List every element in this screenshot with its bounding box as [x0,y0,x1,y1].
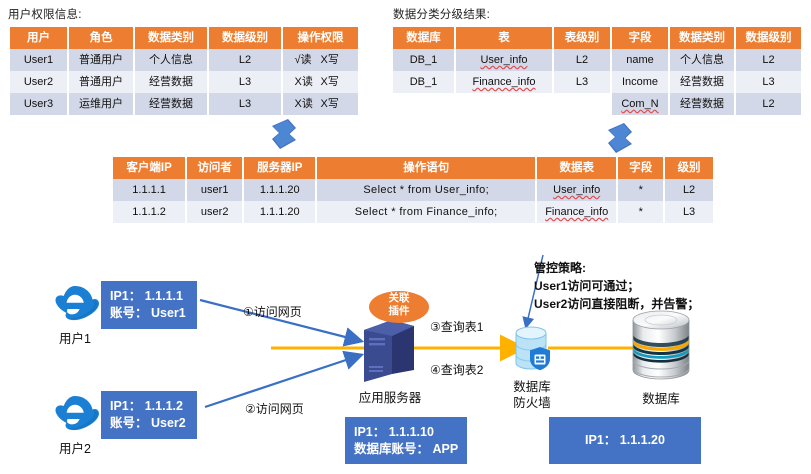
flow-label-step1: ①访问网页 [243,303,302,320]
cell-user: User1 [10,49,68,71]
cell-table-level: L3 [553,71,611,93]
cell-server-ip: 1.1.1.20 [243,179,316,201]
flow-label-step2: ②访问网页 [245,400,304,417]
col-field: 字段 [617,157,664,179]
cell-database: DB_1 [393,71,455,93]
col-level: 级别 [664,157,713,179]
permission-write: X写 [321,53,347,67]
col-data-level: 数据级别 [208,27,282,49]
database-info-box: IP1： 1.1.1.20 [549,417,701,464]
cell-category: 经营数据 [669,93,735,115]
audit-log-table: 客户端IP 访问者 服务器IP 操作语句 数据表 字段 级别 1.1.1.1 u… [113,157,713,223]
policy-callout: 管控策略: User1访问可通过； User2访问直接阻断，并告警； [534,259,699,313]
table-row: DB_1 Finance_info L3 Income 经营数据 L3 [393,71,801,93]
cell-client-ip: 1.1.1.1 [113,179,186,201]
col-field: 字段 [611,27,669,49]
cell-visitor: user1 [186,179,243,201]
cell-level: L3 [208,93,282,115]
user2-account: 账号： User2 [110,415,188,432]
cell-database: DB_1 [393,49,455,71]
blue-arrow-icon [594,121,634,155]
policy-title: 管控策略: [534,259,699,277]
app-server-label: 应用服务器 [349,387,431,406]
cell-field: Income [611,71,669,93]
col-client-ip: 客户端IP [113,157,186,179]
database-firewall-icon [508,323,556,379]
plugin-label-line1: 关联 [368,292,430,305]
user2-ip: IP1： 1.1.1.2 [110,398,188,415]
db-firewall-label-line1: 数据库 [499,379,565,395]
cell-table-level: L2 [553,49,611,71]
cell-statement: Select * from User_info; [316,179,536,201]
cell-role: 运维用户 [68,93,134,115]
user1-info-box: IP1： 1.1.1.1 账号： User1 [101,281,197,329]
cell-level: L2 [735,93,801,115]
db-firewall-label: 数据库 防火墙 [499,379,565,411]
cell-level: L2 [208,49,282,71]
ie-browser-icon [47,391,103,435]
permission-read: X读 [295,75,321,89]
classification-table: 数据库 表 表级别 字段 数据类别 数据级别 DB_1 User_info L2… [393,27,801,115]
database-ip: IP1： 1.1.1.20 [585,432,665,449]
database-icon [625,308,697,384]
col-role: 角色 [68,27,134,49]
cell-category: 经营数据 [669,71,735,93]
permission-read: X读 [295,97,321,111]
col-data-category: 数据类别 [134,27,208,49]
table-row: User1 普通用户 个人信息 L2 √读X写 [10,49,358,71]
cell-level: L2 [735,49,801,71]
database-label: 数据库 [628,388,694,407]
cell-data-table: Finance_info [536,201,617,223]
plugin-badge: 关联 插件 [368,290,430,324]
cell-table: Finance_info [455,71,553,93]
policy-line-2: User2访问直接阻断，并告警； [534,295,699,313]
table-header-row: 客户端IP 访问者 服务器IP 操作语句 数据表 字段 级别 [113,157,713,179]
cell-visitor: user2 [186,201,243,223]
app-server-db-account: 数据库账号： APP [354,441,458,458]
user2-info-box: IP1： 1.1.1.2 账号： User2 [101,391,197,439]
cell-database [393,93,455,115]
plugin-label-line2: 插件 [368,305,430,318]
col-table-level: 表级别 [553,27,611,49]
cell-permission: X读X写 [282,93,358,115]
table-row: User3 运维用户 经营数据 L3 X读X写 [10,93,358,115]
col-operation-permission: 操作权限 [282,27,358,49]
cell-field: * [617,201,664,223]
cell-field: Com_N [611,93,669,115]
cell-user: User2 [10,71,68,93]
cell-data-table: User_info [536,179,617,201]
col-visitor: 访问者 [186,157,243,179]
cell-client-ip: 1.1.1.2 [113,201,186,223]
table-row: User2 普通用户 经营数据 L3 X读X写 [10,71,358,93]
user1-ip: IP1： 1.1.1.1 [110,288,188,305]
cell-category: 个人信息 [669,49,735,71]
cell-permission: X读X写 [282,71,358,93]
arrow-down-left-from-classify-table [594,121,634,160]
ie-browser-icon [47,281,103,325]
user-permission-table: 用户 角色 数据类别 数据级别 操作权限 User1 普通用户 个人信息 L2 … [10,27,358,115]
cell-table: User_info [455,49,553,71]
col-statement: 操作语句 [316,157,536,179]
col-user: 用户 [10,27,68,49]
cell-category: 个人信息 [134,49,208,71]
permission-write: X写 [321,97,347,111]
permission-write: X写 [321,75,347,89]
cell-field: * [617,179,664,201]
flow-label-step3: ③查询表1 [430,318,483,335]
blue-arrow-icon [258,117,298,151]
cell-role: 普通用户 [68,71,134,93]
arrow-down-left-from-perm-table [258,117,298,156]
cell-permission: √读X写 [282,49,358,71]
policy-line-1: User1访问可通过； [534,277,699,295]
db-firewall-label-line2: 防火墙 [499,395,565,411]
col-data-table: 数据表 [536,157,617,179]
user1-account: 账号： User1 [110,305,188,322]
cell-field: name [611,49,669,71]
app-server-ip: IP1： 1.1.1.10 [354,424,458,441]
col-database: 数据库 [393,27,455,49]
cell-table [455,93,553,115]
cell-level: L2 [664,179,713,201]
table-row: DB_1 User_info L2 name 个人信息 L2 [393,49,801,71]
classify-caption: 数据分类分级结果: [393,6,490,22]
cell-server-ip: 1.1.1.20 [243,201,316,223]
app-server-icon [358,316,420,386]
flow-label-step4: ④查询表2 [430,361,483,378]
table-row: 1.1.1.2 user2 1.1.1.20 Select * from Fin… [113,201,713,223]
table-header-row: 用户 角色 数据类别 数据级别 操作权限 [10,27,358,49]
user2-label: 用户2 [44,438,106,457]
user1-label: 用户1 [44,328,106,347]
cell-category: 经营数据 [134,71,208,93]
permission-read: √读 [295,53,321,67]
col-data-level: 数据级别 [735,27,801,49]
col-server-ip: 服务器IP [243,157,316,179]
cell-table-level [553,93,611,115]
cell-level: L3 [664,201,713,223]
cell-category: 经营数据 [134,93,208,115]
app-server-info-box: IP1： 1.1.1.10 数据库账号： APP [345,417,467,464]
cell-statement: Select * from Finance_info; [316,201,536,223]
col-data-category: 数据类别 [669,27,735,49]
table-row: Com_N 经营数据 L2 [393,93,801,115]
cell-level: L3 [208,71,282,93]
col-table: 表 [455,27,553,49]
cell-user: User3 [10,93,68,115]
table-header-row: 数据库 表 表级别 字段 数据类别 数据级别 [393,27,801,49]
table-row: 1.1.1.1 user1 1.1.1.20 Select * from Use… [113,179,713,201]
user-perm-caption: 用户权限信息: [8,6,82,22]
cell-role: 普通用户 [68,49,134,71]
cell-level: L3 [735,71,801,93]
